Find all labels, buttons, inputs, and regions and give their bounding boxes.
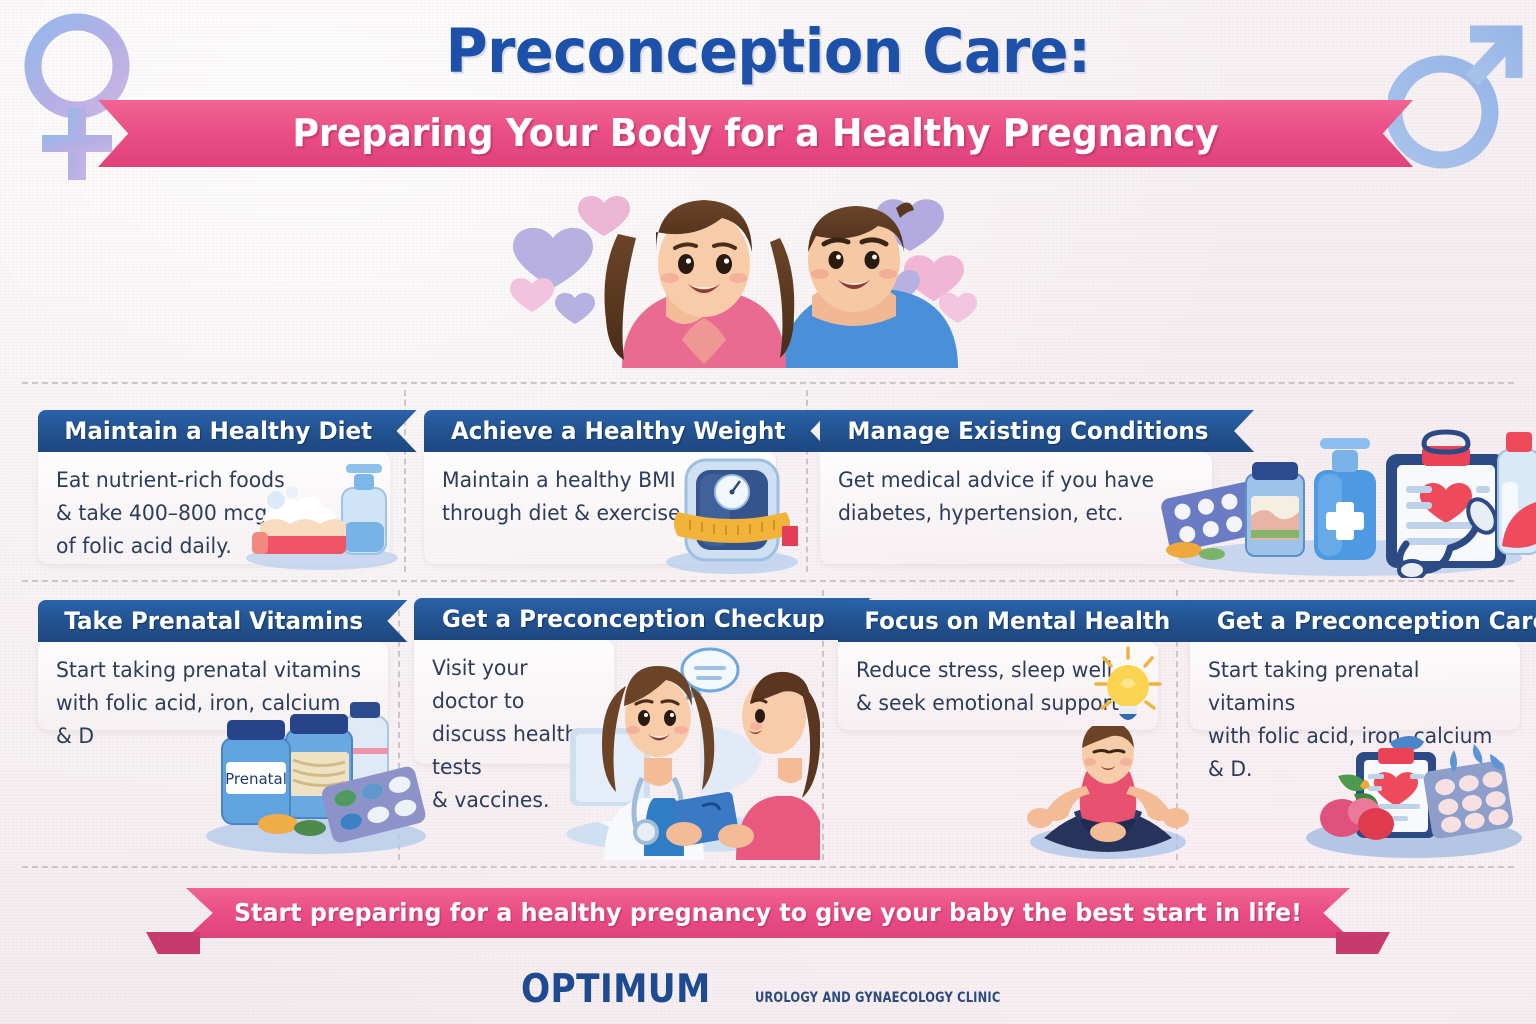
card-preconception-care[interactable]: Get a Preconception Care Start taking pr… xyxy=(1190,600,1520,730)
card-header-preconception-care: Get a Preconception Care xyxy=(1190,600,1536,642)
clinic-brand: OPTIMUM UROLOGY AND GYNAECOLOGY CLINIC xyxy=(0,967,1536,1012)
card-title: Focus on Mental Health xyxy=(864,600,1170,642)
card-line: & take 400–800 mcg xyxy=(56,497,364,530)
card-line: discuss health, tests xyxy=(432,718,593,784)
card-line: & seek emotional support. xyxy=(856,687,1133,720)
card-body-preconception-care: Start taking prenatal vitamins with foli… xyxy=(1190,642,1520,730)
card-header-healthy-diet: Maintain a Healthy Diet xyxy=(38,410,417,452)
footer-callout-text: Start preparing for a healthy pregnancy … xyxy=(215,888,1321,938)
divider-mid xyxy=(22,580,1514,582)
divider-bottom xyxy=(22,866,1514,868)
card-healthy-diet[interactable]: Maintain a Healthy Diet Eat nutrient-ric… xyxy=(38,410,390,564)
card-body-healthy-weight: Maintain a healthy BMI through diet & ex… xyxy=(424,452,776,564)
card-existing-conditions[interactable]: Manage Existing Conditions Get medical a… xyxy=(820,410,1212,564)
card-title: Manage Existing Conditions xyxy=(848,410,1209,452)
card-line: Visit your doctor to xyxy=(432,652,593,718)
brand-subtitle: UROLOGY AND GYNAECOLOGY CLINIC xyxy=(755,990,1000,1006)
ribbon-tail-left xyxy=(146,932,200,954)
card-header-existing-conditions: Manage Existing Conditions xyxy=(820,410,1254,452)
card-line: with folic acid, iron, calcium & D. xyxy=(1208,720,1495,786)
card-line: Start taking prenatal vitamins xyxy=(56,654,363,687)
card-line: & vaccines. xyxy=(432,784,593,817)
card-body-healthy-diet: Eat nutrient-rich foods & take 400–800 m… xyxy=(38,452,390,564)
card-title: Achieve a Healthy Weight xyxy=(451,410,785,452)
card-line: Maintain a healthy BMI xyxy=(442,464,750,497)
title-block: Preconception Care: xyxy=(0,0,1536,87)
card-title: Take Prenatal Vitamins xyxy=(64,600,363,642)
card-line: Get medical advice if you have xyxy=(838,464,1185,497)
card-line: diabetes, hypertension, etc. xyxy=(838,497,1185,530)
divider-col-3 xyxy=(398,590,400,860)
card-line: through diet & exercise. xyxy=(442,497,750,530)
divider-top xyxy=(22,382,1514,384)
card-line: Start taking prenatal vitamins xyxy=(1208,654,1495,720)
card-title: Get a Preconception Care xyxy=(1217,600,1536,642)
infographic-poster: Preconception Care: Preparing Your Body … xyxy=(0,0,1536,1024)
page-subtitle: Preparing Your Body for a Healthy Pregna… xyxy=(124,100,1386,167)
card-line: Eat nutrient-rich foods xyxy=(56,464,364,497)
card-line: of folic acid daily. xyxy=(56,530,364,563)
meditating-person-illustration xyxy=(1018,726,1198,867)
card-body-preconception-checkup: Visit your doctor to discuss health, tes… xyxy=(414,640,614,764)
card-title: Maintain a Healthy Diet xyxy=(64,410,372,452)
card-body-existing-conditions: Get medical advice if you have diabetes,… xyxy=(820,452,1212,564)
brand-name: OPTIMUM xyxy=(521,967,711,1012)
card-header-prenatal-vitamins: Take Prenatal Vitamins xyxy=(38,600,407,642)
card-title: Get a Preconception Checkup xyxy=(442,598,825,640)
card-healthy-weight[interactable]: Achieve a Healthy Weight Maintain a heal… xyxy=(424,410,776,564)
card-body-prenatal-vitamins: Start taking prenatal vitamins with foli… xyxy=(38,642,388,730)
title-ribbon: Preparing Your Body for a Healthy Pregna… xyxy=(98,100,1413,167)
card-body-mental-health: Reduce stress, sleep well & seek emotion… xyxy=(838,642,1158,730)
ribbon-tail-right xyxy=(1336,932,1390,954)
vitamin-bottle-label: Prenatal xyxy=(225,770,287,788)
card-mental-health[interactable]: Focus on Mental Health Reduce stress, sl… xyxy=(838,600,1158,730)
card-header-preconception-checkup: Get a Preconception Checkup xyxy=(414,598,871,640)
page-title: Preconception Care: xyxy=(46,16,1490,87)
card-prenatal-vitamins[interactable]: Take Prenatal Vitamins Start taking pren… xyxy=(38,600,388,730)
card-line: Reduce stress, sleep well xyxy=(856,654,1133,687)
card-header-mental-health: Focus on Mental Health xyxy=(838,600,1215,642)
hero-couple-illustration xyxy=(0,168,1536,378)
footer-callout-ribbon: Start preparing for a healthy pregnancy … xyxy=(186,888,1350,938)
card-header-healthy-weight: Achieve a Healthy Weight xyxy=(424,410,830,452)
card-preconception-checkup[interactable]: Get a Preconception Checkup Visit your d… xyxy=(414,598,806,764)
card-line: with folic acid, iron, calcium & D xyxy=(56,687,363,753)
